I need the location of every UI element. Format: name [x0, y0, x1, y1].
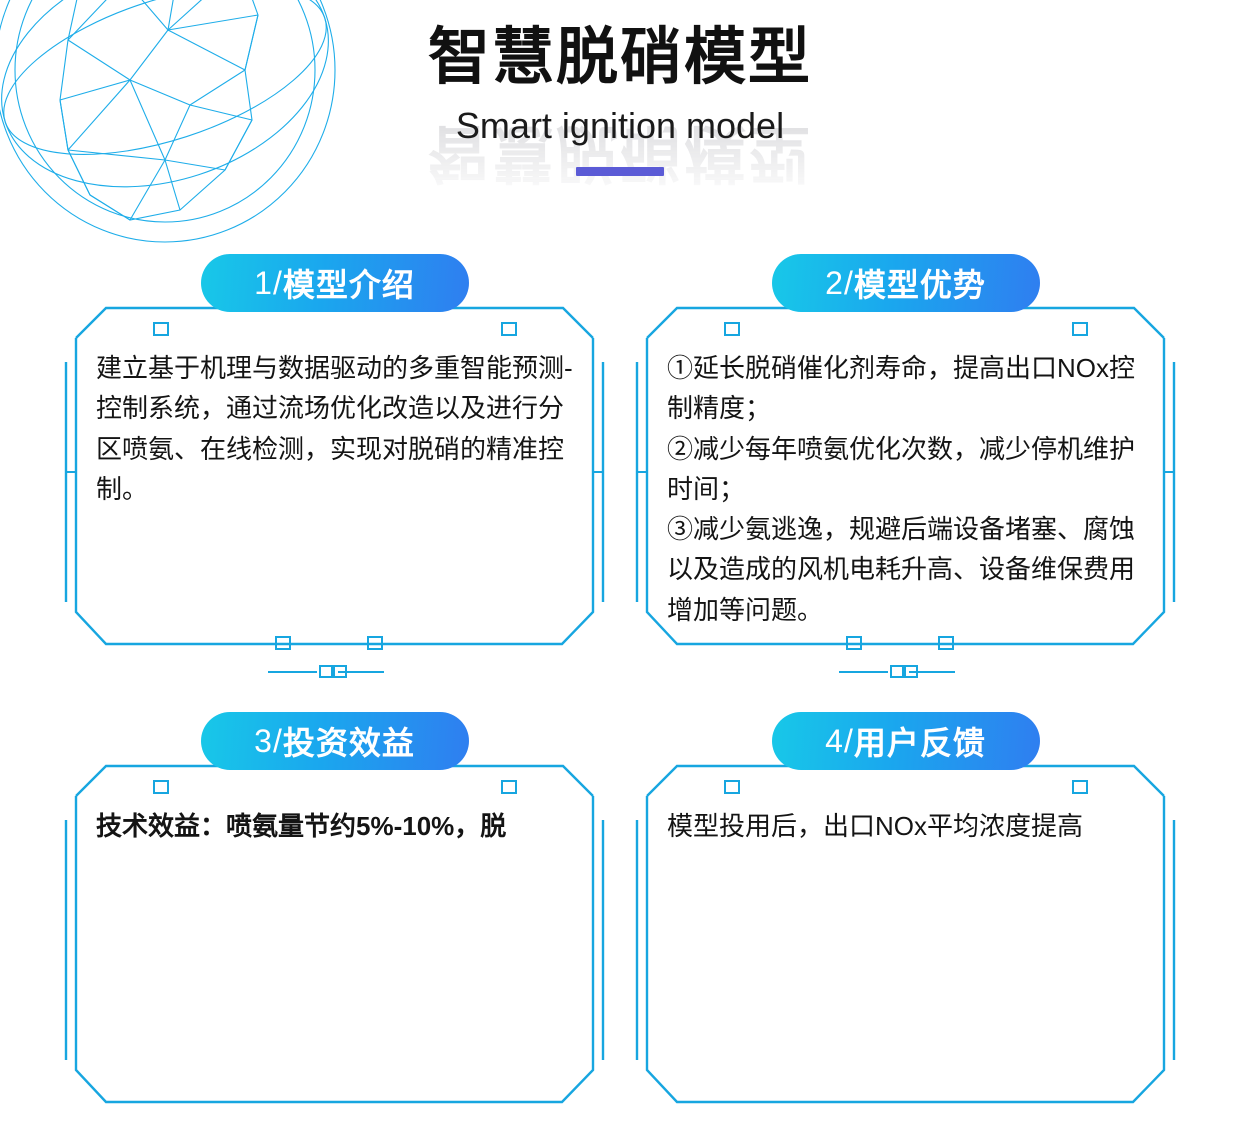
card-number-1: 1/: [254, 265, 283, 302]
card-title-1: 模型介绍: [283, 260, 415, 306]
card-text-1: 建立基于机理与数据驱动的多重智能预测-控制系统，通过流场优化改造以及进行分区喷氨…: [96, 348, 577, 509]
card-title-2: 模型优势: [854, 260, 986, 306]
page-title: 智慧脱硝模型: [0, 22, 1240, 93]
card-grid: 1/模型介绍 建立基于机理与数据驱动的多重智能预测-控制系统，通过流场优化改造以…: [62, 282, 1178, 1140]
card-title-3: 投资效益: [283, 718, 415, 764]
card-frame-decoration: [62, 740, 607, 1140]
card-badge-2[interactable]: 2/模型优势: [772, 254, 1040, 312]
card-text-2: ①延长脱硝催化剂寿命，提高出口NOx控制精度； ②减少每年喷氨优化次数，减少停机…: [667, 348, 1148, 630]
card-number-4: 4/: [825, 723, 854, 760]
title-divider: [576, 167, 664, 176]
card-user-feedback: 4/用户反馈 模型投用后，出口NOx平均浓度提高: [633, 740, 1178, 1140]
card-investment-benefit: 3/投资效益 技术效益：喷氨量节约5%-10%，脱: [62, 740, 607, 1140]
card-body-4: 模型投用后，出口NOx平均浓度提高: [667, 806, 1148, 866]
page-subtitle: Smart ignition model: [0, 105, 1240, 147]
card-number-2: 2/: [825, 265, 854, 302]
card-text-3: 技术效益：喷氨量节约5%-10%，脱: [96, 806, 577, 846]
card-badge-4[interactable]: 4/用户反馈: [772, 712, 1040, 770]
card-text-4: 模型投用后，出口NOx平均浓度提高: [667, 806, 1148, 846]
page-title-block: 智慧脱硝模型 智慧脱硝模型 Smart ignition model: [0, 22, 1240, 176]
card-frame-decoration: [633, 740, 1178, 1140]
card-number-3: 3/: [254, 723, 283, 760]
card-body-1: 建立基于机理与数据驱动的多重智能预测-控制系统，通过流场优化改造以及进行分区喷氨…: [96, 348, 577, 652]
card-body-3: 技术效益：喷氨量节约5%-10%，脱: [96, 806, 577, 866]
card-badge-1[interactable]: 1/模型介绍: [201, 254, 469, 312]
card-model-intro: 1/模型介绍 建立基于机理与数据驱动的多重智能预测-控制系统，通过流场优化改造以…: [62, 282, 607, 682]
card-title-4: 用户反馈: [854, 718, 986, 764]
card-body-2: ①延长脱硝催化剂寿命，提高出口NOx控制精度； ②减少每年喷氨优化次数，减少停机…: [667, 348, 1148, 652]
card-badge-3[interactable]: 3/投资效益: [201, 712, 469, 770]
card-model-advantages: 2/模型优势 ①延长脱硝催化剂寿命，提高出口NOx控制精度； ②减少每年喷氨优化…: [633, 282, 1178, 682]
